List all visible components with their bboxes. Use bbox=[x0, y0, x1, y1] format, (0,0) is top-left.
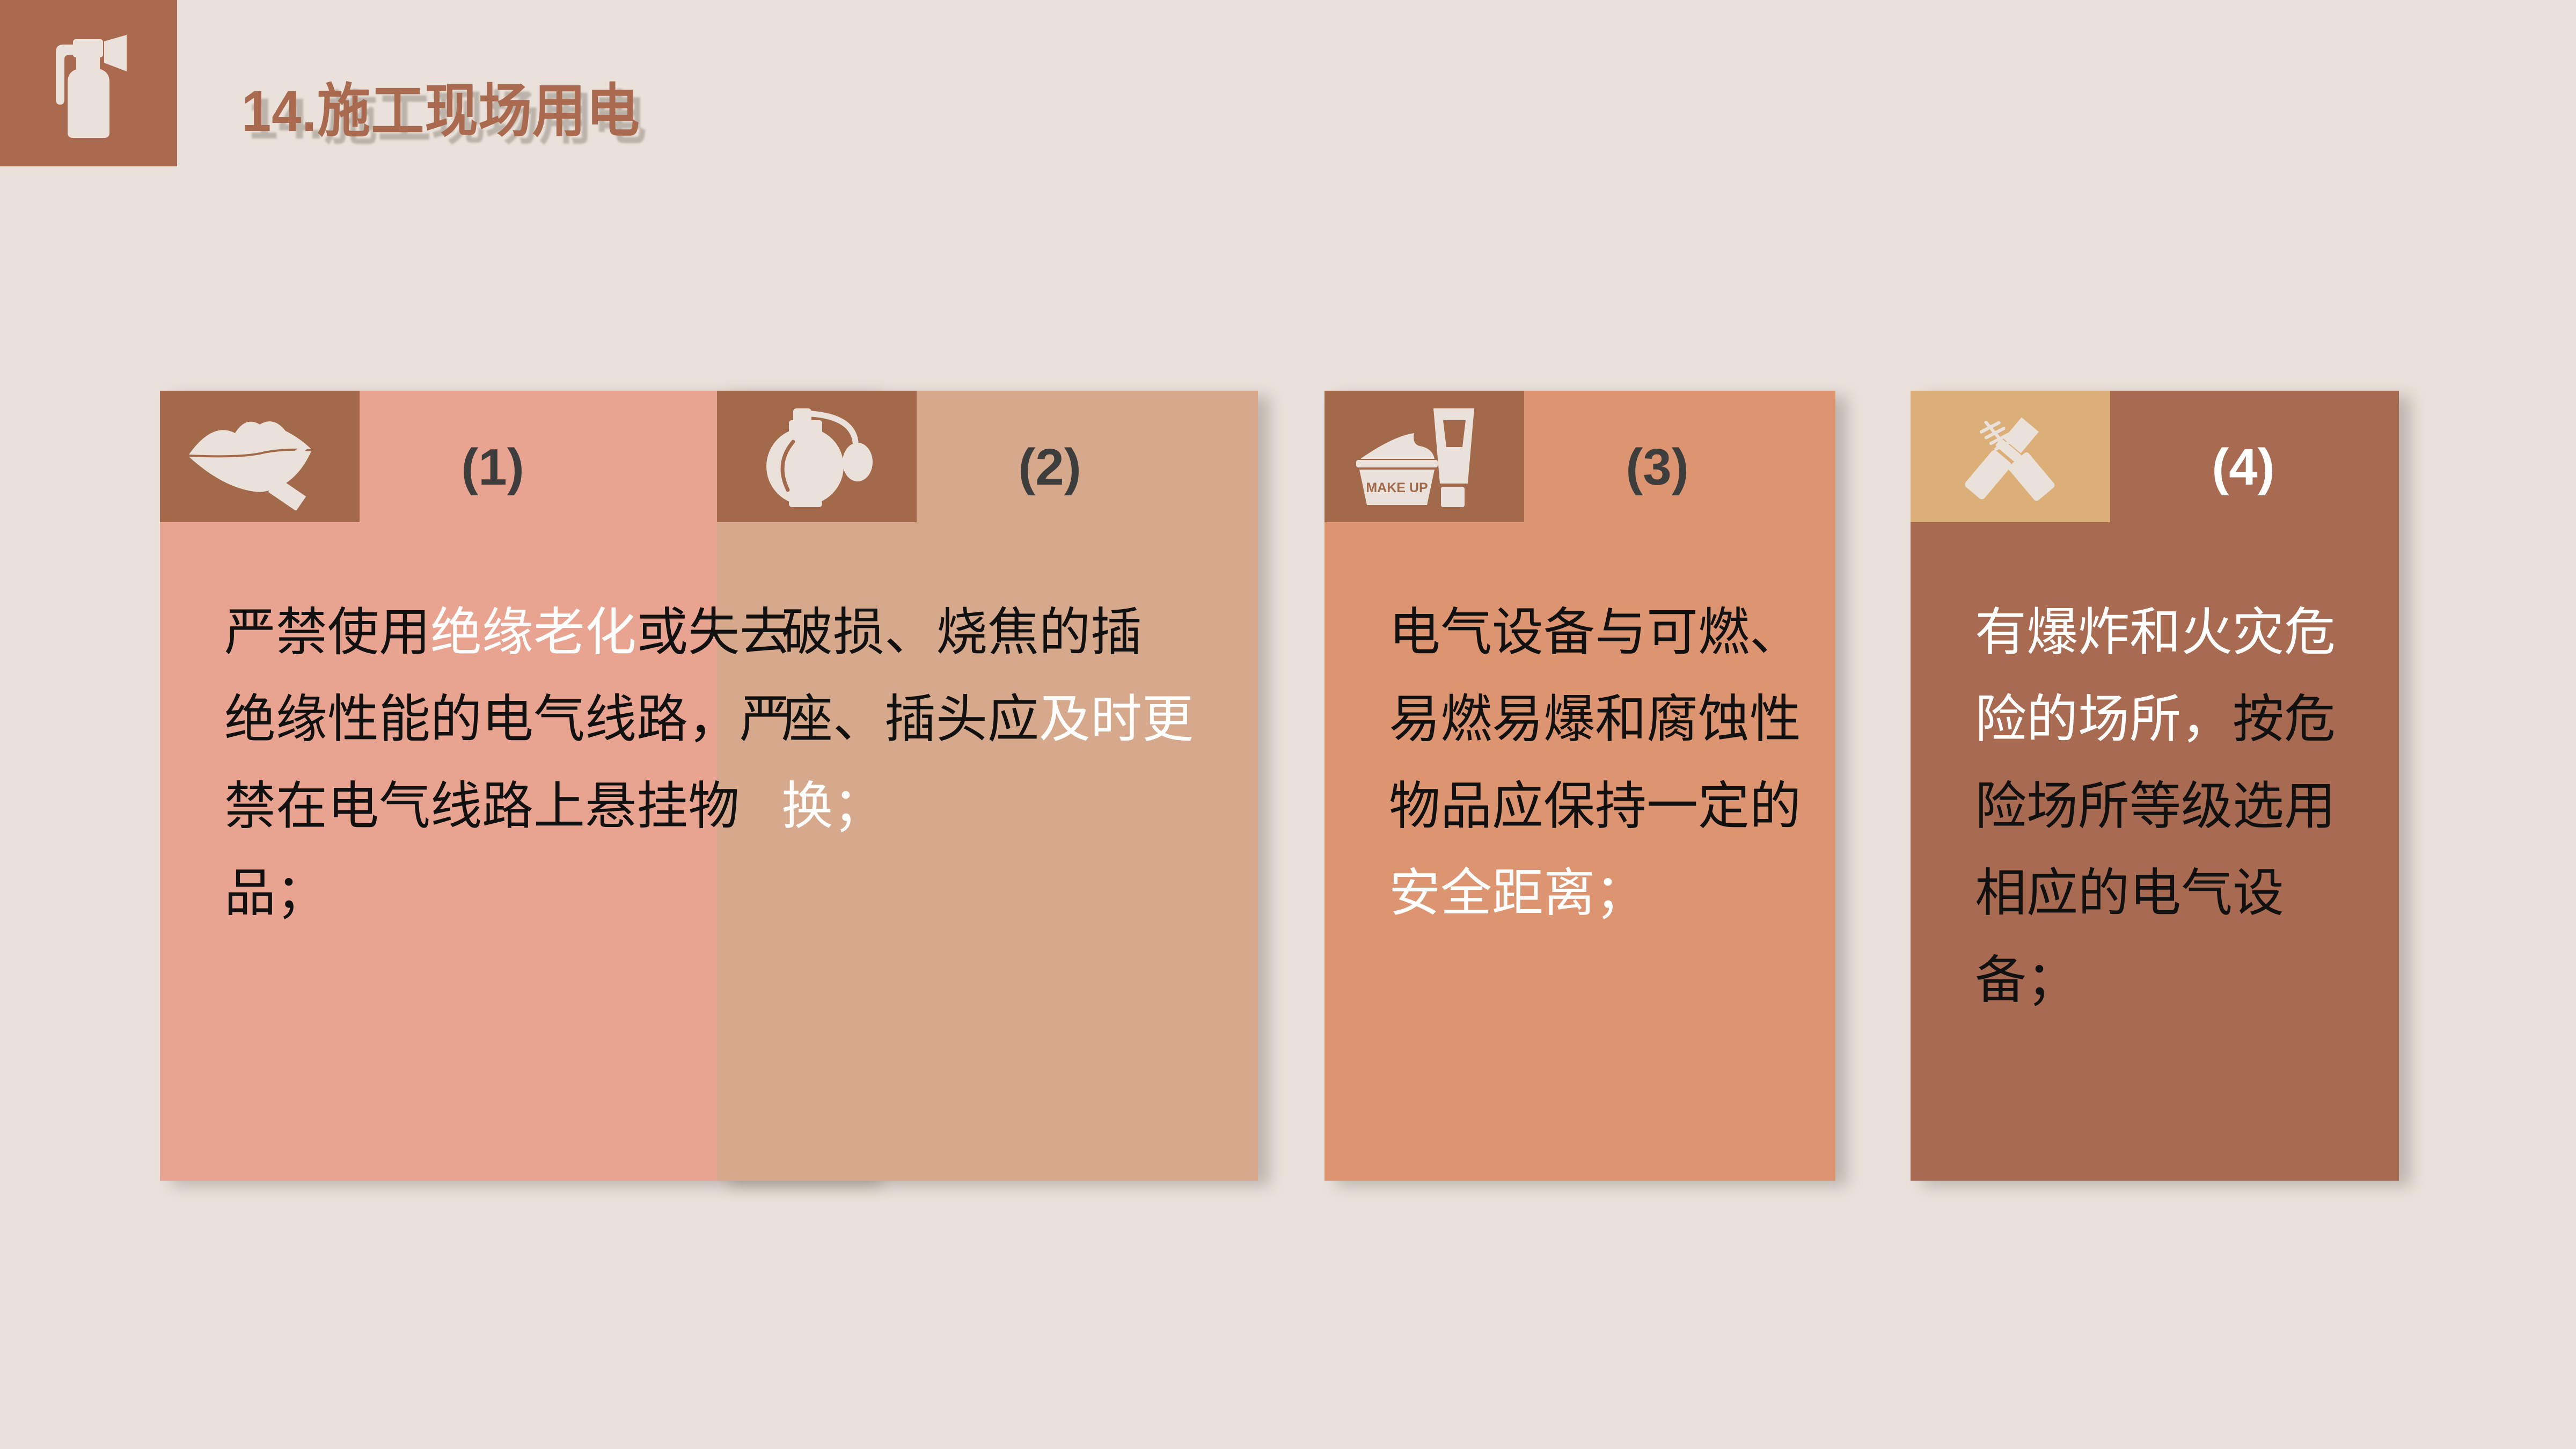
card-4-text: 有爆炸和火灾危险的场所，按危险场所等级选用相应的电气设备； bbox=[1975, 589, 2365, 1024]
card-4-number: (4) bbox=[2125, 438, 2361, 497]
makeup-jar-tube-icon: MAKE UP bbox=[1346, 403, 1502, 510]
card-3-text: 电气设备与可燃、易燃易爆和腐蚀性物品应保持一定的安全距离； bbox=[1389, 589, 1801, 937]
lips-lipbrush-icon bbox=[179, 403, 340, 510]
crossed-lipstick-mascara-icon bbox=[1938, 403, 2083, 510]
card-2-text: 破损、烧焦的插座、插头应及时更换； bbox=[781, 589, 1224, 850]
info-card-3[interactable]: MAKE UP (3) 电气设备与可燃、易燃易爆和腐蚀性物品应保持一定的安全距离… bbox=[1324, 391, 1835, 1181]
card-2-number: (2) bbox=[932, 438, 1168, 497]
cards-container: (1) 严禁使用绝缘老化或失去绝缘性能的电气线路，严禁在电气线路上悬挂物品； bbox=[0, 0, 2576, 1449]
card-1-number: (1) bbox=[375, 438, 611, 497]
card-1-text-highlight: 绝缘老化 bbox=[430, 604, 636, 661]
info-card-2[interactable]: (2) 破损、烧焦的插座、插头应及时更换； bbox=[717, 391, 1258, 1181]
card-3-text-part-1: 电气设备与可燃、易燃易爆和腐蚀性物品应保持一定的 bbox=[1389, 604, 1801, 835]
perfume-atomizer-icon bbox=[742, 403, 892, 510]
info-card-4[interactable]: (4) 有爆炸和火灾危险的场所，按危险场所等级选用相应的电气设备； bbox=[1911, 391, 2399, 1181]
card-1-text-part-1: 严禁使用 bbox=[224, 604, 430, 661]
card-2-icon-block bbox=[717, 391, 917, 522]
card-4-icon-block bbox=[1911, 391, 2110, 522]
card-3-text-highlight: 安全距离； bbox=[1389, 865, 1646, 922]
card-1-icon-block bbox=[160, 391, 360, 522]
card-3-icon-block: MAKE UP bbox=[1324, 391, 1524, 522]
card-3-number: (3) bbox=[1539, 438, 1775, 497]
svg-text:MAKE UP: MAKE UP bbox=[1366, 480, 1428, 495]
